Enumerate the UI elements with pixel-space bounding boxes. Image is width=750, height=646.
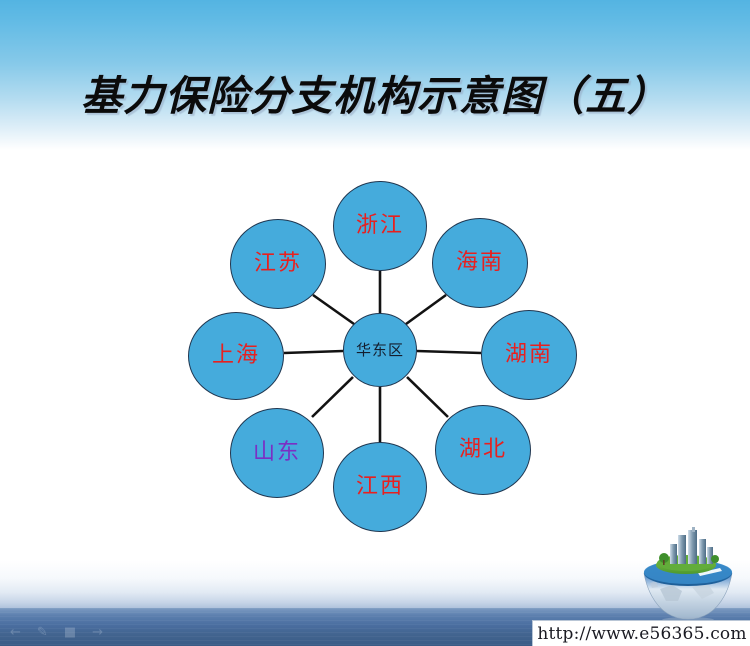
connector-line: [406, 295, 446, 324]
connector-line: [407, 377, 448, 417]
node-label: 华东区: [356, 343, 404, 358]
website-url-box[interactable]: http://www.e56365.com: [532, 620, 750, 646]
connector-line: [312, 377, 353, 417]
back-arrow-icon: ←: [10, 624, 21, 642]
node-label: 浙江: [356, 215, 404, 237]
center-node[interactable]: 华东区: [343, 313, 417, 387]
connector-line: [313, 295, 354, 324]
branch-node-江西[interactable]: 江西: [333, 442, 427, 532]
branch-node-山东[interactable]: 山东: [230, 408, 324, 498]
square-icon: ■: [64, 624, 76, 642]
pen-icon: ✎: [37, 624, 48, 642]
branch-node-海南[interactable]: 海南: [432, 218, 528, 308]
connector-line: [284, 351, 343, 353]
node-label: 江苏: [254, 253, 302, 275]
node-label: 海南: [456, 252, 504, 274]
node-label: 湖南: [505, 344, 553, 366]
branch-node-江苏[interactable]: 江苏: [230, 219, 326, 309]
watermark-toolbar-icons: ← ✎ ■ →: [10, 624, 180, 642]
branch-node-湖北[interactable]: 湖北: [435, 405, 531, 495]
forward-arrow-icon: →: [92, 624, 103, 642]
branch-node-湖南[interactable]: 湖南: [481, 310, 577, 400]
node-label: 湖北: [459, 439, 507, 461]
node-label: 江西: [356, 476, 404, 498]
connector-line: [417, 351, 481, 353]
slide-canvas: ← ✎ ■ → 基力保险分支机构示意图（五） 浙江海南湖南湖北江西山东上海江苏华…: [0, 0, 750, 646]
page-title: 基力保险分支机构示意图（五）: [0, 62, 750, 122]
earth-city-globe-logo: [636, 527, 740, 623]
node-label: 上海: [212, 345, 260, 367]
node-label: 山东: [253, 442, 301, 464]
org-chart-diagram: 浙江海南湖南湖北江西山东上海江苏华东区: [180, 165, 580, 535]
branch-node-浙江[interactable]: 浙江: [333, 181, 427, 271]
branch-node-上海[interactable]: 上海: [188, 312, 284, 400]
website-url-text: http://www.e56365.com: [537, 624, 746, 644]
